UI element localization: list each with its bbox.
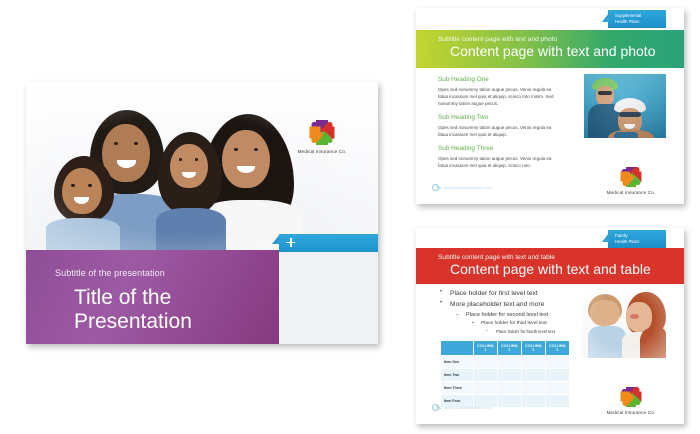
brand-name: Medical Insurance Co. [284,149,360,154]
bullet-level4: Place holder for fourth level text [436,329,586,334]
supplemental-health-plans-tab[interactable]: Supplemental Health Plans [608,10,666,28]
brand-name: Medical Insurance Co. [600,190,662,195]
footer-website[interactable]: www.yourwebsitehere.com [432,403,492,412]
title-banner: Subtitle of the presentation Title of th… [26,250,279,344]
pinwheel-hearts-logo-icon [621,387,641,407]
table-cell [522,382,546,395]
table-cell [522,369,546,382]
body-paragraph: Opes sed nonummy tation augue pecus. Ven… [438,86,560,108]
sub-heading: Sub Heading Three [438,145,560,152]
table-cell [498,395,522,408]
mother-and-child-photo [582,288,666,358]
presentation-template-preview: Medical Insurance Co. Subtitle of the pr… [0,0,700,434]
table-cell [498,369,522,382]
table-cell [522,395,546,408]
table-cell [546,382,570,395]
table-cell [474,356,498,369]
footer-website[interactable]: www.yourwebsitehere.com [432,183,492,192]
table-cell [474,369,498,382]
tab-label-line2: Health Plans [615,19,666,26]
table-corner-cell [441,341,474,356]
table-row: Item Two [441,369,570,382]
bullet-level1: Place holder for first level text [436,290,586,297]
bullet-level1: More placeholder text and more [436,301,586,308]
column-header: COLUMN 2 [498,341,522,356]
content-slide-text-and-table[interactable]: Family Health Plans Subtitle content pag… [416,228,684,424]
table-cell [498,356,522,369]
row-label: Item Two [441,369,474,382]
website-icon [432,183,441,192]
tab-fold-corner [602,233,609,242]
column-header: COLUMN 4 [546,341,570,356]
table-row: Item One [441,356,570,369]
slide-header: Subtitle content page with text and tabl… [416,248,684,284]
sub-heading: Sub Heading One [438,76,560,83]
slide-subtitle: Subtitle content page with text and tabl… [416,248,684,261]
tab-label-line2: Health Plans [615,239,666,246]
tab-fold-corner [602,13,609,22]
family-photo [26,82,378,250]
presentation-subtitle: Subtitle of the presentation [55,268,165,278]
column-header: COLUMN 3 [522,341,546,356]
table-cell [498,382,522,395]
tab-label-line1: Supplemental [615,13,666,20]
bullet-level3: Place holder for third level text [436,321,586,326]
data-table: COLUMN 1 COLUMN 2 COLUMN 3 COLUMN 4 Item… [440,340,570,408]
bullet-list: Place holder for first level text More p… [436,290,586,334]
table-row: Item Three [441,382,570,395]
brand-logo: Medical Insurance Co. [284,120,360,154]
brand-logo: Medical Insurance Co. [600,167,662,195]
body-paragraph: Opes sed nonummy tation augue pecus. Ven… [438,155,560,170]
pinwheel-hearts-logo-icon [309,120,335,146]
table-header-row: COLUMN 1 COLUMN 2 COLUMN 3 COLUMN 4 [441,341,570,356]
row-label: Item Three [441,382,474,395]
row-label: Item One [441,356,474,369]
slide-subtitle: Subtitle content page with text and phot… [416,30,684,43]
website-icon [432,403,441,412]
brand-logo: Medical Insurance Co. [600,387,662,415]
bullet-level2: Place holder for second level text [436,312,586,318]
presentation-title-line2: Presentation [74,310,192,334]
table-cell [474,382,498,395]
slide-header: Subtitle content page with text and phot… [416,30,684,68]
footer-url: www.yourwebsitehere.com [444,185,492,190]
family-health-plans-tab[interactable]: Family Health Plans [608,230,666,248]
body-paragraph: Opes sed nonummy tation augue pecus. Ven… [438,124,560,139]
pinwheel-hearts-logo-icon [621,167,641,187]
brand-name: Medical Insurance Co. [600,410,662,415]
slide-body: Sub Heading One Opes sed nonummy tation … [438,76,560,176]
title-slide[interactable]: Medical Insurance Co. Subtitle of the pr… [26,82,378,344]
column-header: COLUMN 1 [474,341,498,356]
sub-heading: Sub Heading Two [438,114,560,121]
slide-title: Content page with text and photo [416,43,684,61]
table-cell [546,369,570,382]
table-cell [546,395,570,408]
plus-icon [286,238,295,247]
footer-url: www.yourwebsitehere.com [444,405,492,410]
table-cell [546,356,570,369]
swimmers-photo [584,74,666,138]
slide-title: Content page with text and table [416,261,684,279]
content-slide-text-and-photo[interactable]: Supplemental Health Plans Subtitle conte… [416,8,684,204]
tab-label-line1: Family [615,233,666,240]
presentation-title-line1: Title of the [74,286,192,310]
table-cell [522,356,546,369]
presentation-title: Title of the Presentation [74,286,192,333]
topics-tab[interactable] [279,234,378,252]
